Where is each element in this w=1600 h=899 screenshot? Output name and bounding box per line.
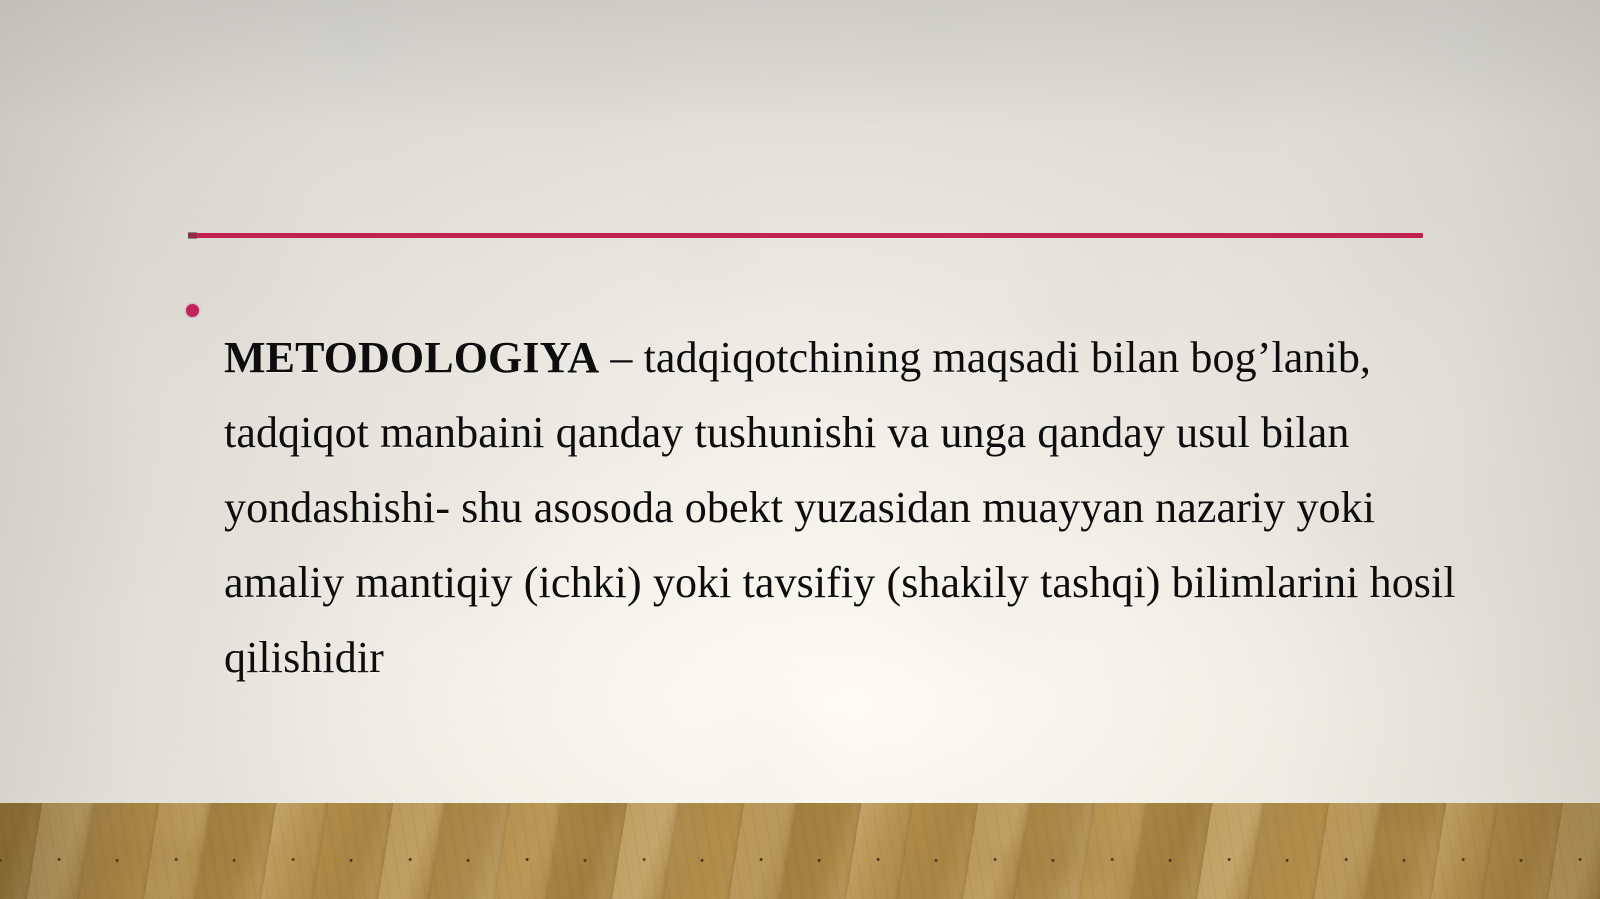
bullet-body-text: tadqiqotchining maqsadi bilan bog’lanib,… (224, 333, 1456, 682)
lead-separator: – (599, 333, 643, 382)
wood-floor (0, 803, 1600, 899)
round-bullet-icon (186, 304, 199, 317)
accent-rule-left-cap (188, 232, 197, 239)
accent-rule (188, 233, 1423, 238)
bullet-paragraph: METODOLOGIYA – tadqiqotchining maqsadi b… (224, 320, 1456, 695)
slide-body: METODOLOGIYA – tadqiqotchining maqsadi b… (186, 276, 1456, 739)
list-item: METODOLOGIYA – tadqiqotchining maqsadi b… (186, 276, 1456, 739)
lead-term: METODOLOGIYA (224, 333, 599, 382)
slide-canvas: METODOLOGIYA – tadqiqotchining maqsadi b… (0, 0, 1600, 899)
